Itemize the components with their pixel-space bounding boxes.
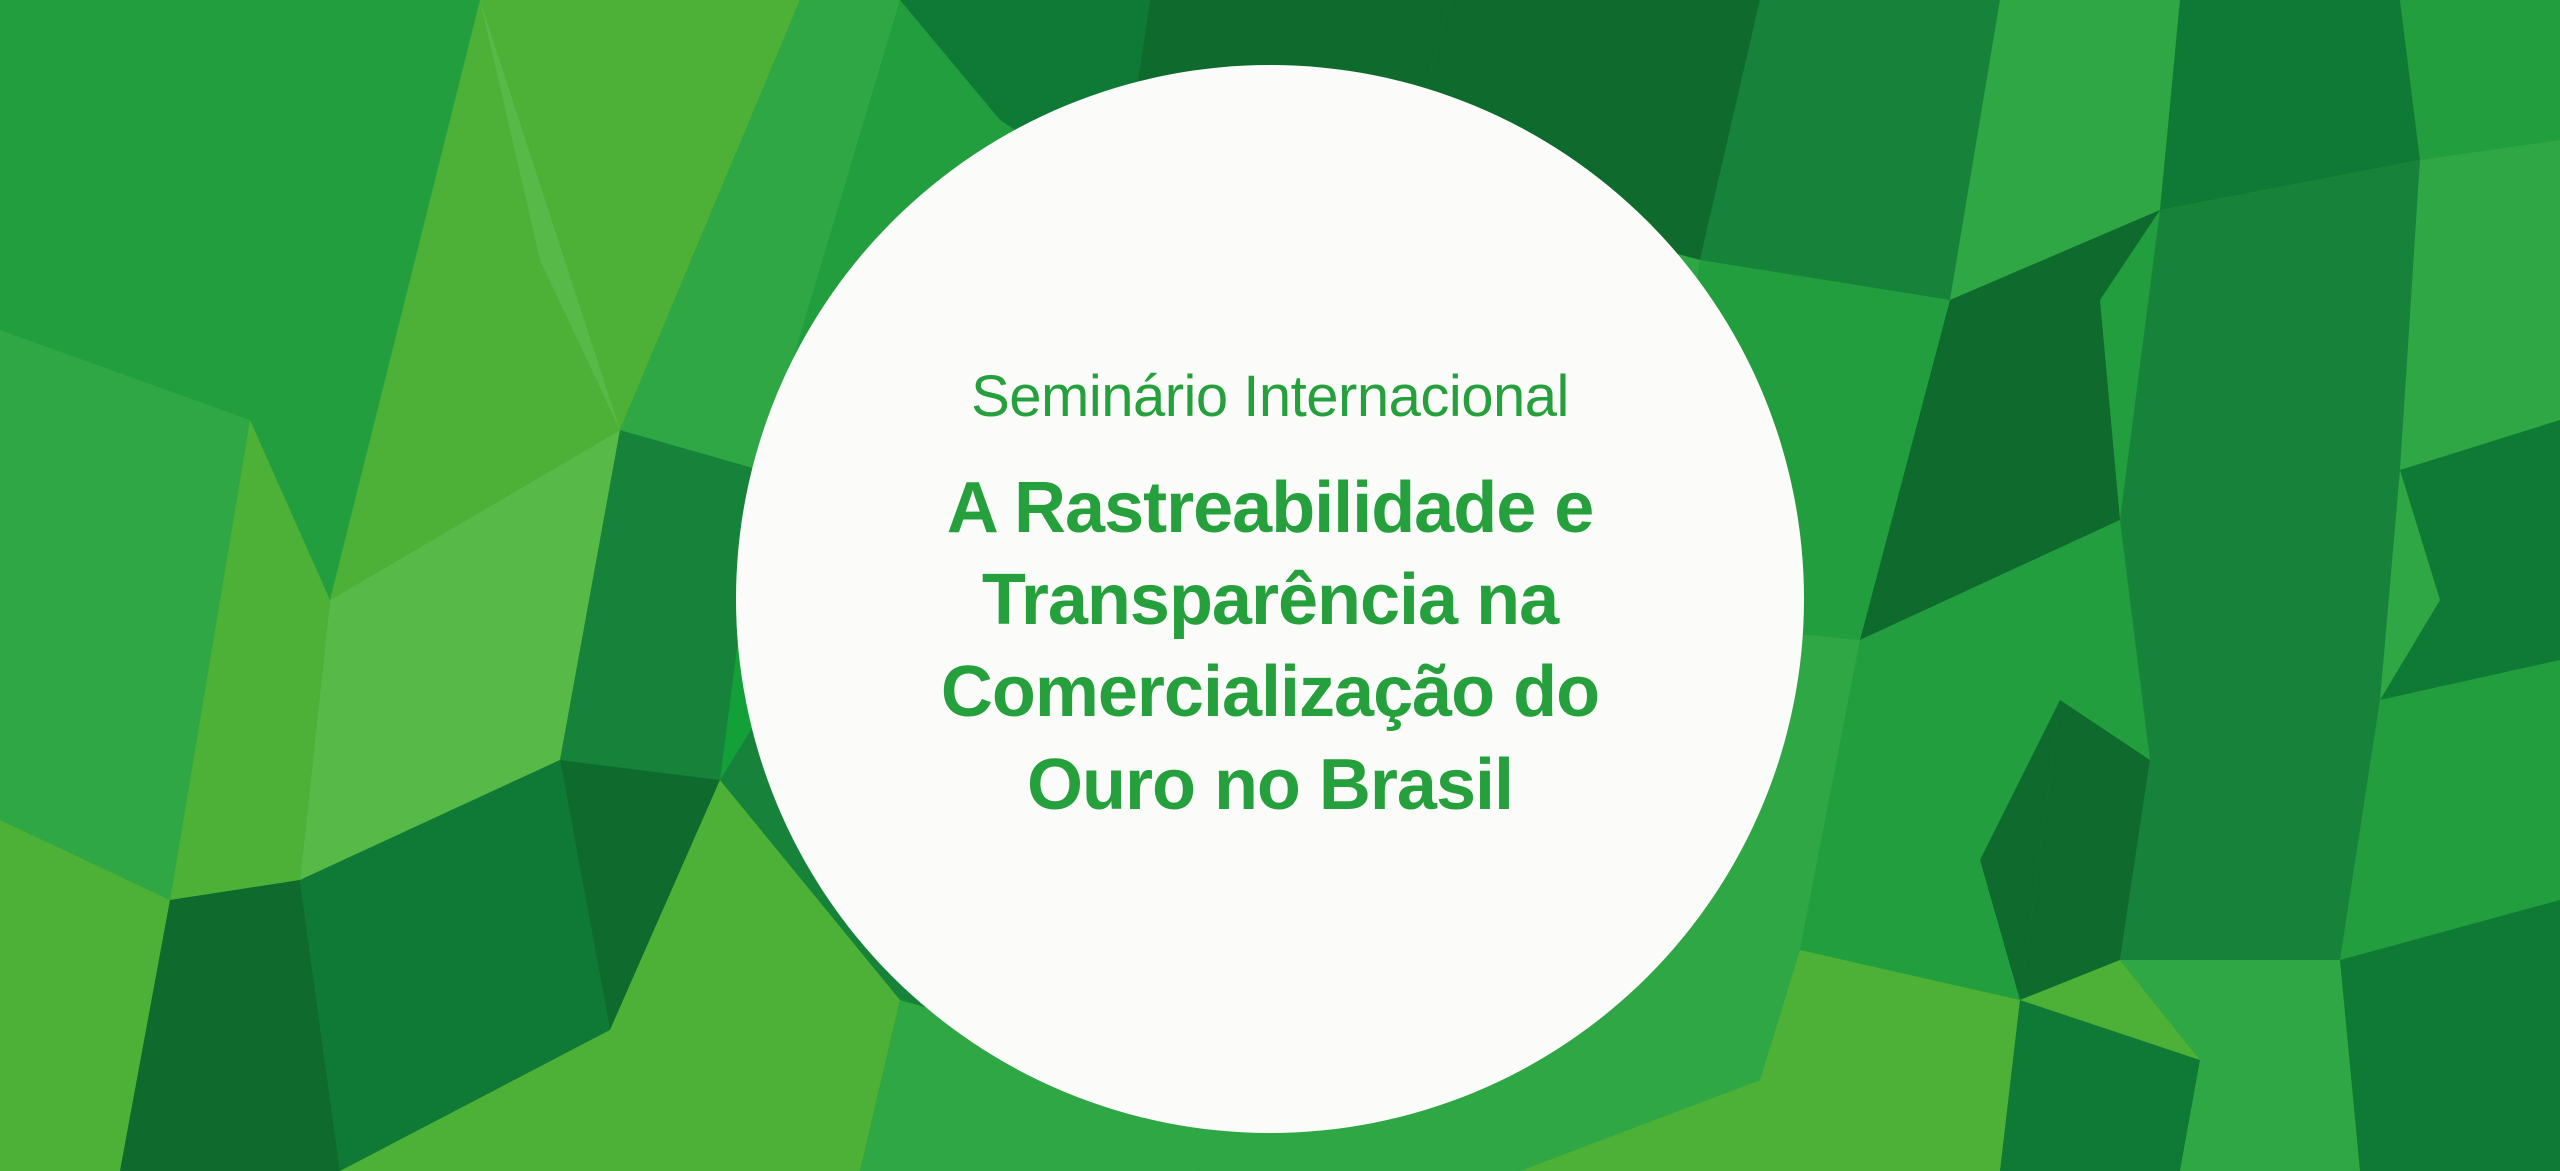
headline-line-2: Transparência na (941, 554, 1599, 646)
headline-line-1: A Rastreabilidade e (941, 462, 1599, 554)
seminar-banner: Seminário Internacional A Rastreabilidad… (0, 0, 2560, 1171)
headline-line-3: Comercialização do (941, 646, 1599, 738)
headline-line-4: Ouro no Brasil (941, 739, 1599, 831)
title-circle-badge: Seminário Internacional A Rastreabilidad… (736, 65, 1804, 1133)
seminar-headline: A Rastreabilidade e Transparência na Com… (941, 462, 1599, 831)
seminar-eyebrow-label: Seminário Internacional (971, 367, 1569, 428)
